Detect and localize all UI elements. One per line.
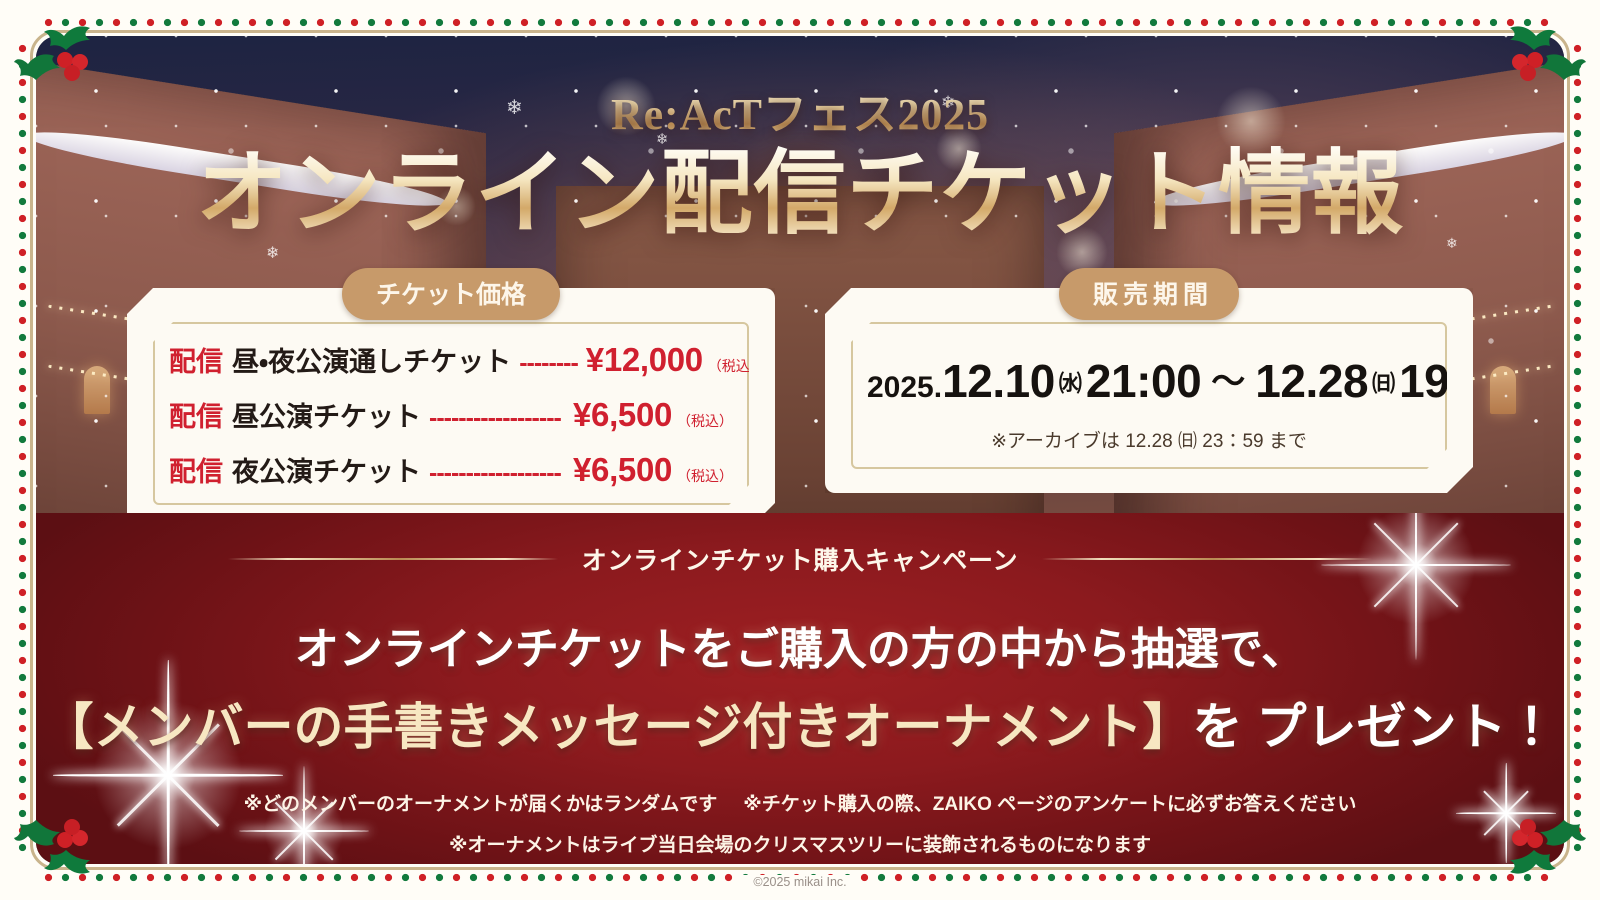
ticket-price: ¥12,000 [586, 341, 703, 379]
divider-right [1042, 558, 1372, 560]
campaign-present-text: を プレゼント！ [1193, 699, 1557, 755]
holly-berry-icon [57, 819, 88, 848]
tax-note: （税込） [708, 356, 764, 376]
ticket-price-card: 配信 昼・夜公演通しチケット -------- ¥12,000 （税込） 配信 … [127, 288, 775, 529]
period-end-date: 12.28 [1255, 355, 1368, 407]
price-row: 配信 昼公演チケット ------------------ ¥6,500 （税込… [169, 395, 733, 434]
ticket-price-card-inner: 配信 昼・夜公演通しチケット -------- ¥12,000 （税込） 配信 … [153, 322, 749, 505]
title-block: Re:AcTフェス2025 オンライン配信チケット情報 [36, 78, 1564, 243]
ticket-price-badge: チケット価格 [342, 268, 560, 320]
sales-period-badge: 販売期間 [1059, 268, 1239, 320]
dot-border-top-green [44, 18, 1556, 27]
holly-berry-icon [1512, 52, 1543, 81]
holly-decoration-top-left [14, 10, 126, 122]
leader-dashes: ------------------ [429, 459, 561, 488]
tax-note: （税込） [677, 411, 733, 431]
campaign-line-1: オンラインチケットをご購入の方の中から抽選で、 [36, 613, 1564, 677]
period-separator: 〜 [1211, 363, 1245, 401]
info-panels: チケット価格 配信 昼・夜公演通しチケット -------- ¥12,000 （… [36, 288, 1564, 529]
streaming-tag: 配信 [169, 450, 223, 489]
note-line-2: ※オーナメントはライブ当日会場のクリスマスツリーに装飾されるものになります [36, 830, 1564, 857]
dot-border-left-red [18, 44, 27, 856]
campaign-notes: ※どのメンバーのオーナメントが届くかはランダムです※チケット購入の際、ZAIKO… [36, 789, 1564, 857]
ticket-price: ¥6,500 [573, 396, 672, 434]
tax-note: （税込） [677, 466, 733, 486]
weekday-sun-icon: ㈰ [1372, 364, 1395, 398]
campaign-prize-name: 【メンバーの手書きメッセージ付きオーナメント】 [44, 699, 1193, 755]
dot-border-right-green [1573, 44, 1582, 856]
ticket-name: 昼・夜公演通しチケット [232, 340, 511, 379]
period-content: 2025.12.10㈬21:00〜12.28㈰19:00 ※アーカイブは 12.… [867, 340, 1431, 455]
ticket-name: 昼公演チケット [232, 395, 421, 434]
holly-decoration-top-right [1474, 10, 1586, 122]
poster-stage: ❄ ❄ ❄ ❄ ❄ ❄ ❄ ❄ Re:AcTフェス2025 オンライン配信チケッ… [36, 36, 1564, 864]
holly-decoration-bottom-left [14, 778, 126, 890]
sales-period-panel: 販売期間 2025.12.10㈬21:00〜12.28㈰19:00 ※アーカイブ… [825, 288, 1473, 529]
period-line: 2025.12.10㈬21:00〜12.28㈰19:00 [867, 354, 1431, 408]
campaign-heading-row: オンラインチケット購入キャンペーン [36, 541, 1564, 577]
ticket-price-panel: チケット価格 配信 昼・夜公演通しチケット -------- ¥12,000 （… [127, 288, 775, 529]
dot-border-top-red [44, 18, 1556, 27]
campaign-line-2: 【メンバーの手書きメッセージ付きオーナメント】を プレゼント！ [36, 687, 1564, 759]
price-row: 配信 夜公演チケット ------------------ ¥6,500 （税込… [169, 450, 733, 489]
period-year: 2025. [867, 371, 942, 404]
page-title: オンライン配信チケット情報 [36, 146, 1564, 243]
dot-border-right-red [1573, 44, 1582, 856]
period-start-time: 21:00 [1086, 355, 1201, 407]
weekday-wed-icon: ㈬ [1059, 364, 1082, 398]
holly-berry-icon [1512, 819, 1543, 848]
ticket-price: ¥6,500 [573, 451, 672, 489]
snowflake-icon: ❄ [266, 246, 279, 262]
holly-berry-icon [57, 52, 88, 81]
note-text: ※チケット購入の際、ZAIKO ページのアンケートに必ずお答えください [743, 794, 1356, 815]
holly-decoration-bottom-right [1474, 778, 1586, 890]
divider-left [228, 558, 558, 560]
period-start-date: 12.10 [942, 355, 1055, 407]
event-subtitle: Re:AcTフェス2025 [36, 78, 1564, 142]
poster-root: ❄ ❄ ❄ ❄ ❄ ❄ ❄ ❄ Re:AcTフェス2025 オンライン配信チケッ… [0, 0, 1600, 900]
streaming-tag: 配信 [169, 395, 223, 434]
streaming-tag: 配信 [169, 340, 223, 379]
leader-dashes: ------------------ [429, 404, 561, 433]
price-row: 配信 昼・夜公演通しチケット -------- ¥12,000 （税込） [169, 340, 733, 379]
note-text: ※どのメンバーのオーナメントが届くかはランダムです [244, 794, 718, 815]
note-line-1: ※どのメンバーのオーナメントが届くかはランダムです※チケット購入の際、ZAIKO… [36, 789, 1564, 816]
sales-period-card-inner: 2025.12.10㈬21:00〜12.28㈰19:00 ※アーカイブは 12.… [851, 322, 1447, 469]
campaign-band: オンラインチケット購入キャンペーン オンラインチケットをご購入の方の中から抽選で… [36, 513, 1564, 864]
leader-dashes: -------- [519, 349, 578, 378]
copyright-notice: ©2025 mikai Inc. [741, 875, 858, 889]
archive-note: ※アーカイブは 12.28 ㈰ 23：59 まで [867, 426, 1431, 453]
campaign-heading: オンラインチケット購入キャンペーン [582, 541, 1019, 577]
dot-border-left-green [18, 44, 27, 856]
ticket-name: 夜公演チケット [232, 450, 421, 489]
period-end-time: 19:00 [1399, 355, 1514, 407]
